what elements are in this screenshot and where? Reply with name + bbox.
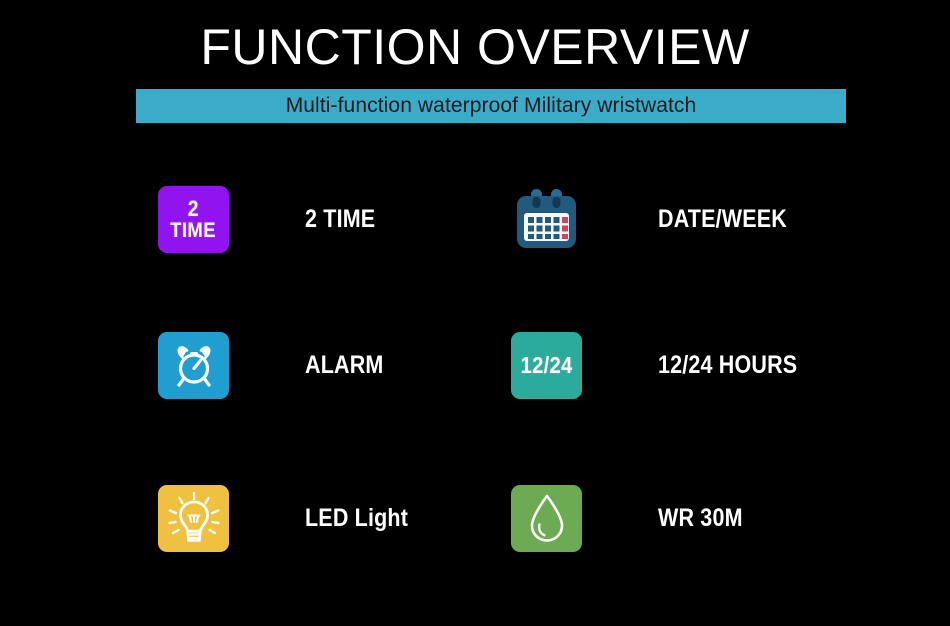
subtitle-text: Multi-function waterproof Military wrist…: [286, 94, 697, 118]
twelve-twentyfour-icon-text: 12/24: [521, 354, 573, 377]
two-time-icon-line1: 2: [171, 198, 217, 220]
twelve-twentyfour-icon: 12/24: [511, 332, 582, 399]
feature-item-led-light[interactable]: LED Light: [158, 485, 425, 552]
feature-item-water-resistance[interactable]: WR 30M: [511, 485, 756, 552]
feature-label-twelve-twentyfour: 12/24 HOURS: [658, 351, 797, 380]
function-overview-poster: FUNCTION OVERVIEW Multi-function waterpr…: [0, 0, 950, 626]
feature-label-water-resistance: WR 30M: [658, 504, 743, 533]
feature-grid: 2 TIME 2 TIME: [0, 160, 950, 600]
feature-label-led-light: LED Light: [305, 504, 408, 533]
two-time-icon: 2 TIME: [158, 186, 229, 253]
two-time-icon-text: 2 TIME: [171, 198, 217, 242]
feature-item-alarm[interactable]: ALARM: [158, 332, 396, 399]
subtitle-banner: Multi-function waterproof Military wrist…: [136, 89, 846, 123]
feature-item-date-week[interactable]: DATE/WEEK: [511, 186, 808, 253]
feature-label-two-time: 2 TIME: [305, 205, 375, 234]
alarm-clock-icon: [158, 332, 229, 399]
calendar-icon: [511, 186, 582, 253]
lightbulb-icon: [158, 485, 229, 552]
feature-label-date-week: DATE/WEEK: [658, 205, 787, 234]
feature-item-twelve-twentyfour[interactable]: 12/24 12/24 HOURS: [511, 332, 820, 399]
page-title: FUNCTION OVERVIEW: [0, 18, 950, 76]
feature-label-alarm: ALARM: [305, 351, 383, 380]
water-drop-icon: [511, 485, 582, 552]
feature-item-two-time[interactable]: 2 TIME 2 TIME: [158, 186, 387, 253]
two-time-icon-line2: TIME: [171, 220, 217, 241]
